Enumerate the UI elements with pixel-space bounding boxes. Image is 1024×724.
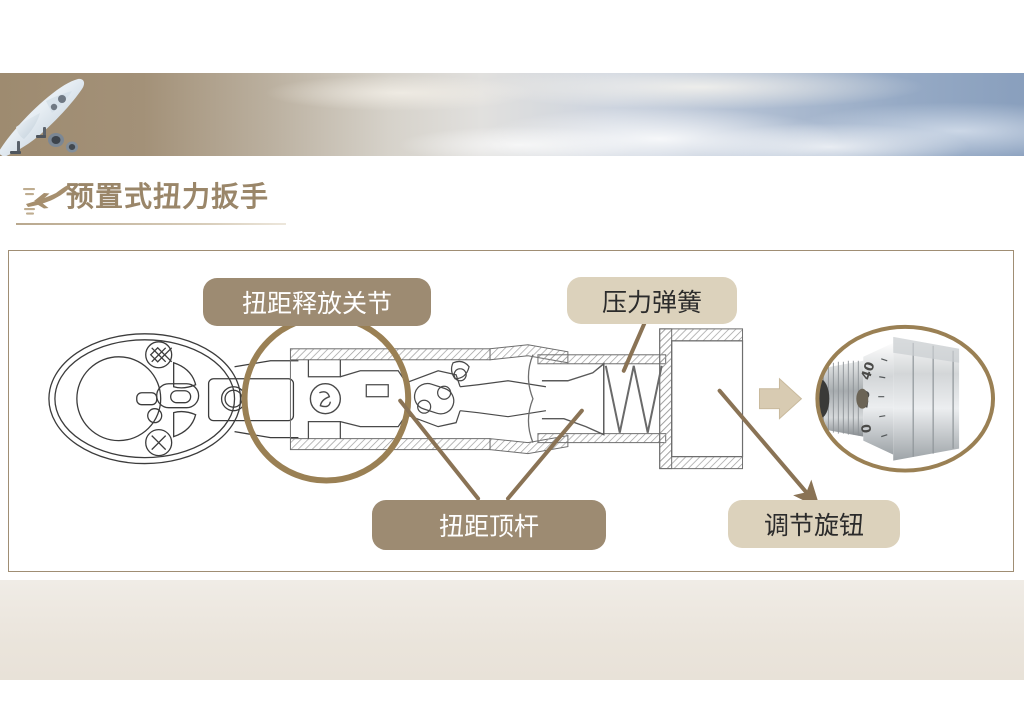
label-torque-push-rod[interactable]: 扭距顶杆	[372, 500, 606, 550]
banner-sky-background	[0, 73, 1024, 156]
airplane-icon	[22, 177, 72, 217]
slide-root: 航空基本装配技能训练 BASIC SKILLS TRAINING OF AVIA…	[0, 0, 1024, 724]
section-divider	[16, 223, 286, 225]
label-torque-release-joint[interactable]: 扭距释放关节	[203, 278, 431, 326]
label-adjustment-knob[interactable]: 调节旋钮	[728, 500, 900, 548]
header-banner: 航空基本装配技能训练 BASIC SKILLS TRAINING OF AVIA…	[0, 73, 1024, 156]
section-heading: 预置式扭力扳手	[0, 175, 1024, 237]
knob-photo: 40 20 0	[809, 327, 993, 471]
airplane-photo-icon	[0, 73, 108, 156]
svg-text:0: 0	[859, 423, 875, 434]
section-title: 预置式扭力扳手	[66, 175, 269, 215]
flow-arrow-right	[759, 379, 801, 419]
leader-rod-right	[508, 411, 582, 499]
label-pressure-spring[interactable]: 压力弹簧	[567, 277, 737, 324]
footer-white-strip	[0, 680, 1024, 724]
